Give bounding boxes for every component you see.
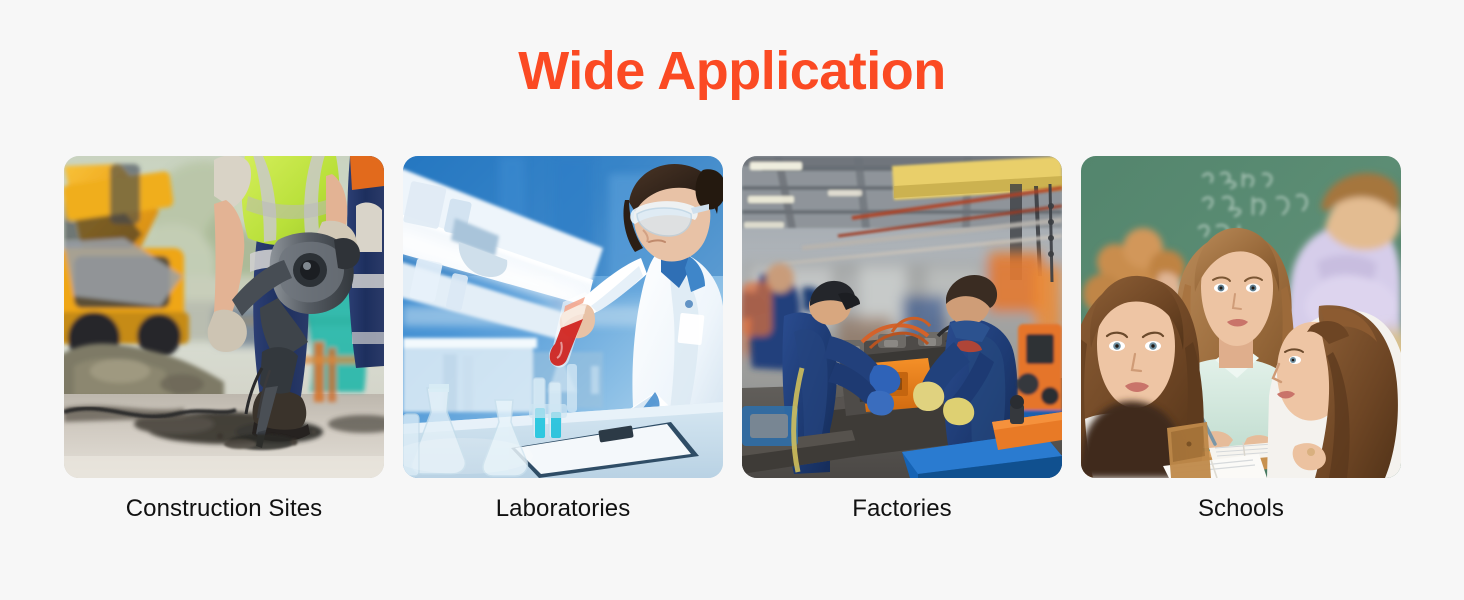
gallery-item-caption: Construction Sites — [64, 493, 384, 524]
page-title: Wide Application — [0, 44, 1464, 98]
gallery-item-caption: Schools — [1081, 493, 1401, 524]
gallery-item-schools[interactable]: Schools — [1081, 156, 1401, 524]
construction-site-image — [64, 156, 384, 478]
gallery-item-caption: Factories — [742, 493, 1062, 524]
gallery-item-construction-sites[interactable]: Construction Sites — [64, 156, 384, 524]
gallery-item-laboratories[interactable]: Laboratories — [403, 156, 723, 524]
laboratory-image — [403, 156, 723, 478]
gallery-item-caption: Laboratories — [403, 493, 723, 524]
gallery-item-factories[interactable]: Factories — [742, 156, 1062, 524]
application-gallery: Construction Sites — [64, 156, 1401, 524]
wide-application-section: Wide Application — [0, 0, 1464, 600]
factory-image — [742, 156, 1062, 478]
school-image — [1081, 156, 1401, 478]
